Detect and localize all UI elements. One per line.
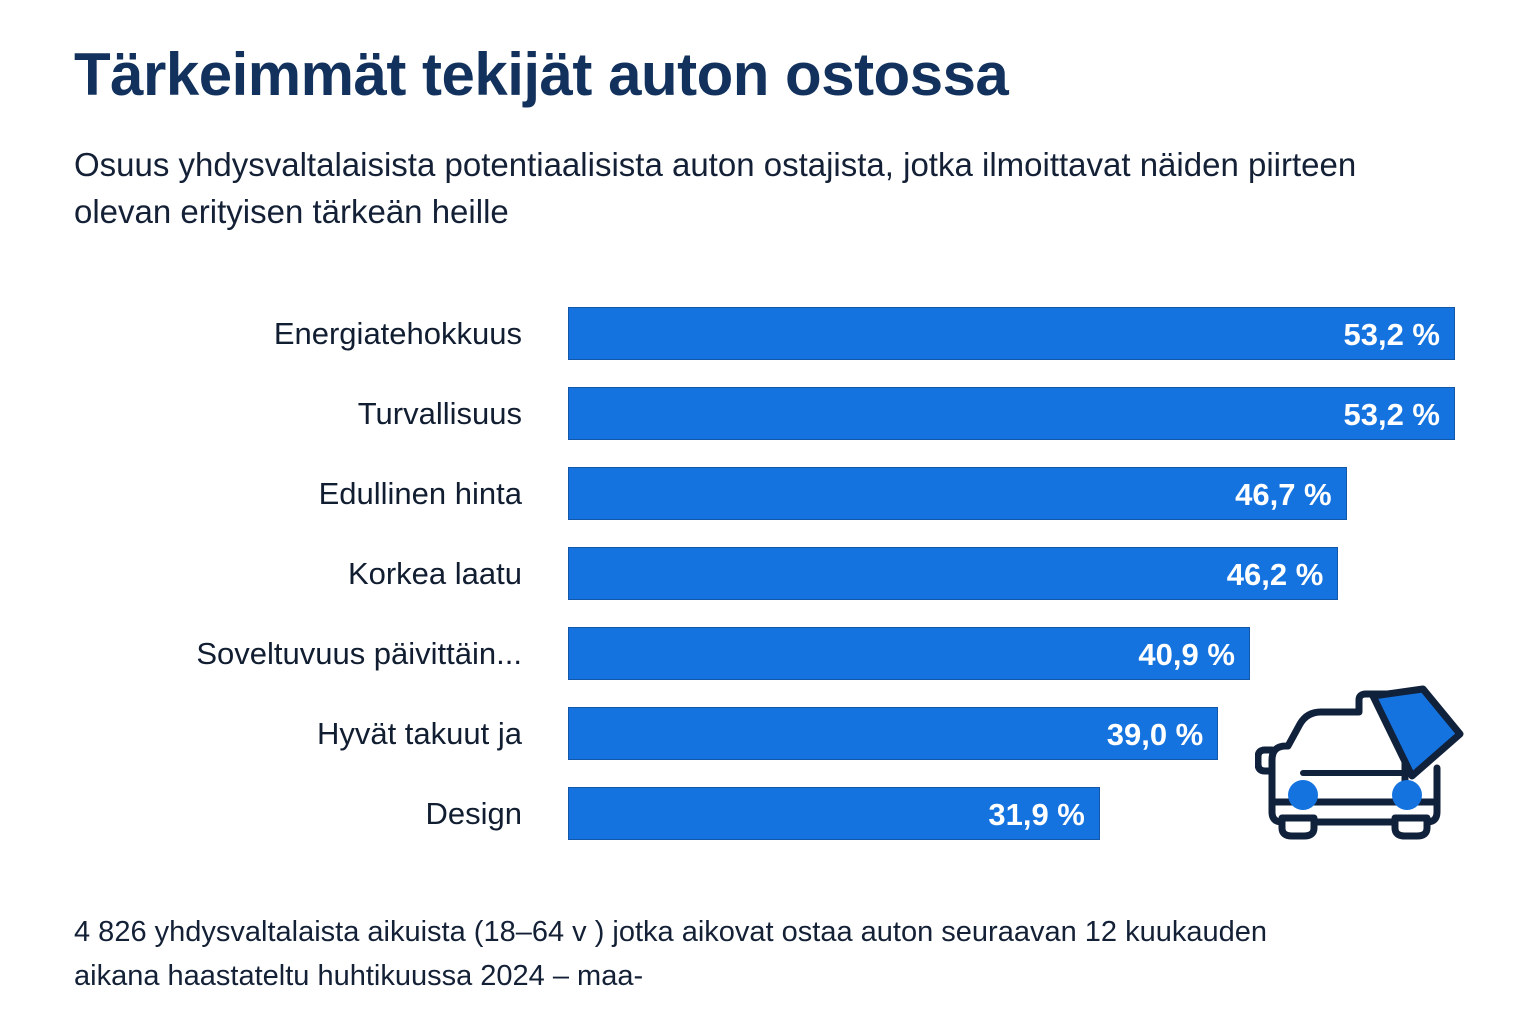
chart-footnote: 4 826 yhdysvaltalaista aikuista (18–64 v…: [74, 910, 1334, 998]
bar: 53,2 %: [568, 387, 1455, 440]
category-label: Edullinen hinta: [24, 467, 544, 520]
bar: 31,9 %: [568, 787, 1100, 840]
bar: 40,9 %: [568, 627, 1250, 680]
category-label: Korkea laatu: [24, 547, 544, 600]
bar: 39,0 %: [568, 707, 1218, 760]
bar-value-label: 46,2 %: [1227, 548, 1324, 601]
bar-value-label: 40,9 %: [1138, 628, 1235, 681]
bar-value-label: 53,2 %: [1343, 388, 1440, 441]
category-label: Turvallisuus: [24, 387, 544, 440]
bar-value-label: 31,9 %: [988, 788, 1085, 841]
chart-subtitle: Osuus yhdysvaltalaisista potentiaalisist…: [74, 141, 1364, 235]
car-with-price-tag-icon: [1255, 672, 1470, 840]
category-label: Hyvät takuut ja: [24, 707, 544, 760]
bar-value-label: 53,2 %: [1343, 308, 1440, 361]
bar-row: Energiatehokkuus53,2 %: [0, 307, 1536, 360]
category-label: Soveltuvuus päivittäin...: [24, 627, 544, 680]
page-title: Tärkeimmät tekijät auton ostossa: [74, 40, 1008, 110]
bar: 53,2 %: [568, 307, 1455, 360]
category-label: Energiatehokkuus: [24, 307, 544, 360]
bar-row: Korkea laatu46,2 %: [0, 547, 1536, 600]
bar: 46,2 %: [568, 547, 1338, 600]
category-label: Design: [24, 787, 544, 840]
bar-value-label: 46,7 %: [1235, 468, 1332, 521]
bar-value-label: 39,0 %: [1107, 708, 1204, 761]
bar-row: Turvallisuus53,2 %: [0, 387, 1536, 440]
infographic-canvas: Tärkeimmät tekijät auton ostossa Osuus y…: [0, 0, 1536, 1024]
bar: 46,7 %: [568, 467, 1347, 520]
bar-row: Edullinen hinta46,7 %: [0, 467, 1536, 520]
